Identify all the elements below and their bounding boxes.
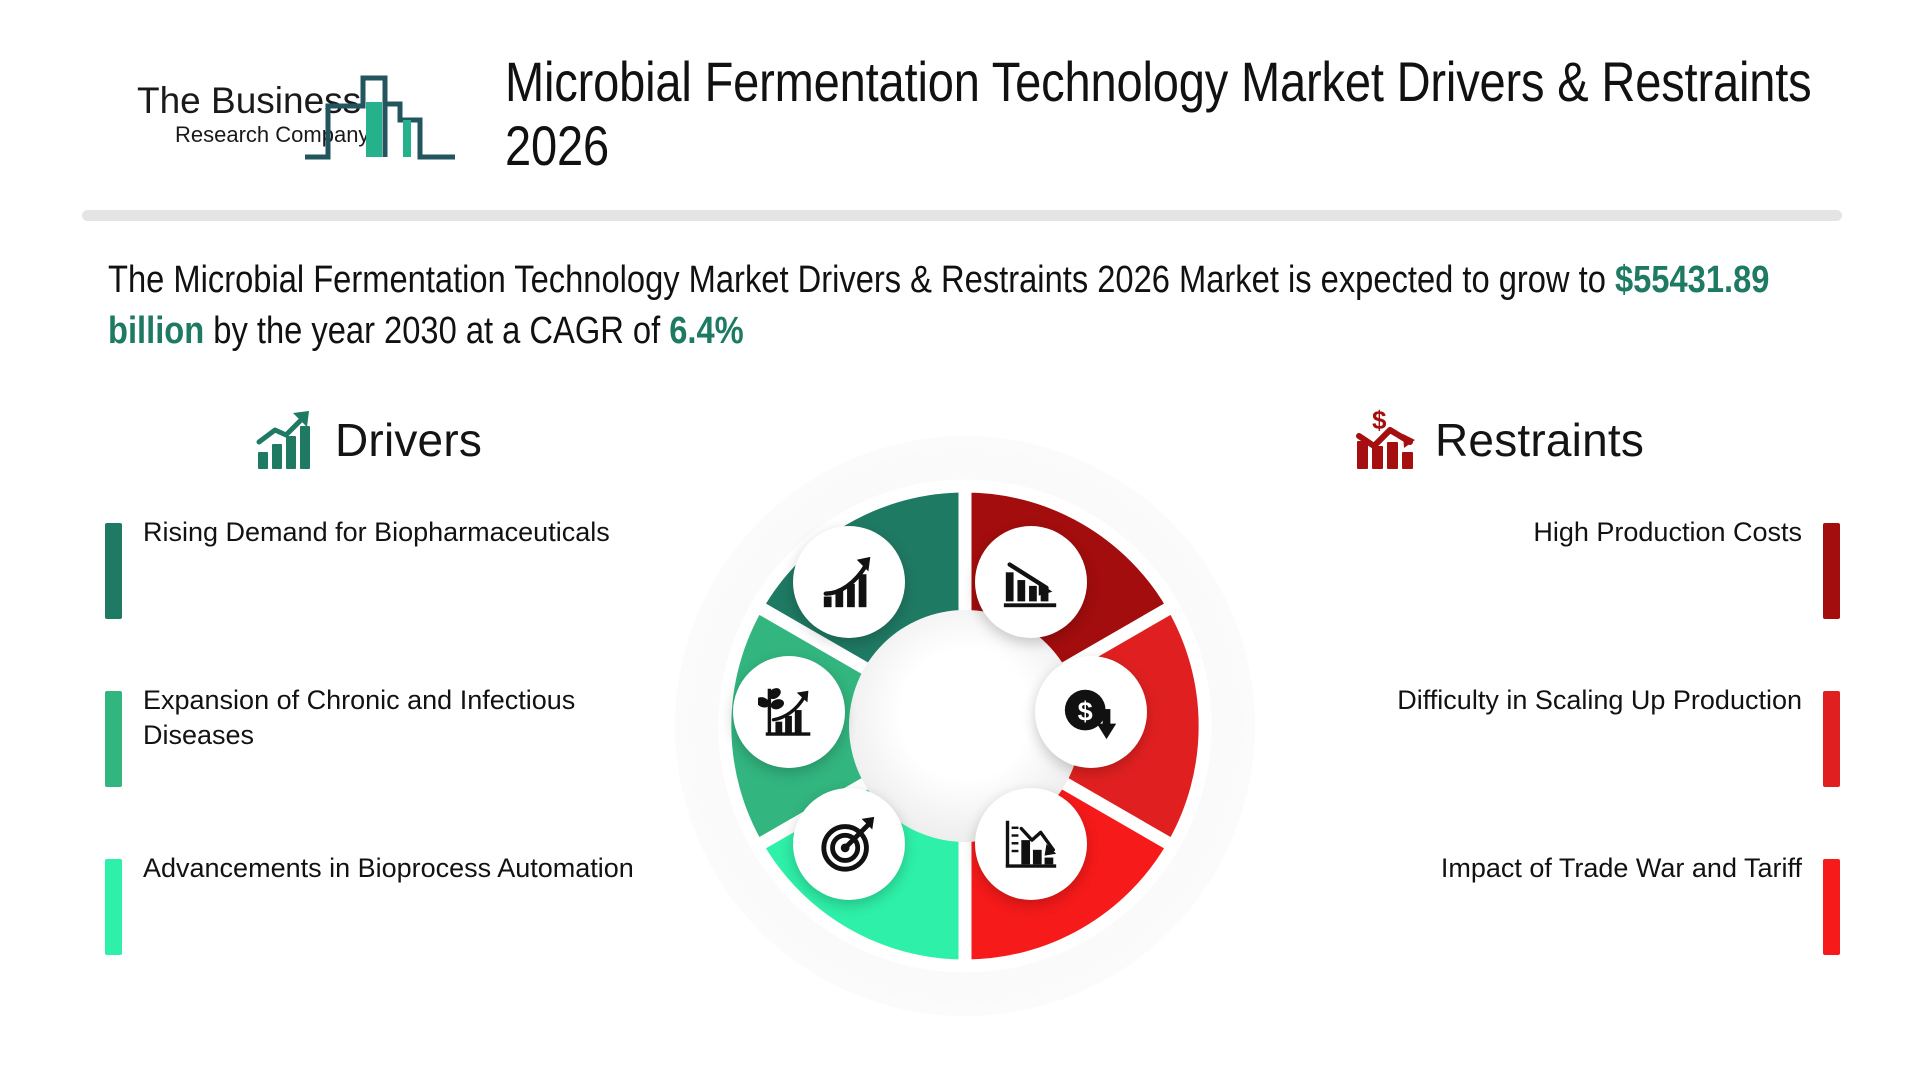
restraint-accent-bar	[1823, 859, 1840, 955]
summary-middle: by the year 2030 at a CAGR of	[204, 310, 669, 352]
driver-accent-bar	[105, 859, 122, 955]
driver-item-text: Rising Demand for Biopharmaceuticals	[143, 515, 643, 550]
title-block: Microbial Fermentation Technology Market…	[505, 50, 1845, 178]
rising-bar-chart-arrow-icon	[255, 408, 319, 472]
drivers-list: Rising Demand for Biopharmaceuticals Exp…	[105, 515, 705, 1019]
logo-text-line2: Research Company	[175, 122, 369, 147]
restraint-item-text: High Production Costs	[1262, 515, 1802, 550]
falling-line-chart-icon	[1000, 813, 1062, 875]
restraints-label: Restraints	[1435, 413, 1644, 467]
badge-declining-bars[interactable]	[975, 526, 1087, 638]
restraint-accent-bar	[1823, 691, 1840, 787]
svg-text:$: $	[1372, 408, 1387, 435]
bar-chart-logo-icon: The Business Research Company	[135, 58, 465, 168]
badge-plant-growth[interactable]	[733, 656, 845, 768]
driver-item-text: Advancements in Bioprocess Automation	[143, 851, 643, 886]
declining-bar-chart-icon	[1000, 551, 1062, 613]
market-summary: The Microbial Fermentation Technology Ma…	[108, 255, 1837, 356]
svg-text:$: $	[1078, 696, 1093, 727]
badge-growth-chart[interactable]	[793, 526, 905, 638]
drivers-label: Drivers	[335, 413, 482, 467]
header-divider	[82, 210, 1842, 221]
driver-item-text: Expansion of Chronic and Infectious Dise…	[143, 683, 643, 753]
logo-bar-teal-2	[403, 120, 411, 157]
target-dart-icon	[818, 813, 880, 875]
falling-bar-chart-dollar-icon: $	[1355, 408, 1419, 472]
driver-accent-bar	[105, 523, 122, 619]
page-title: Microbial Fermentation Technology Market…	[505, 50, 1841, 178]
infographic-page: The Business Research Company Microbial …	[0, 0, 1920, 1080]
restraint-item-text: Impact of Trade War and Tariff	[1262, 851, 1802, 886]
restraints-header: $ Restraints	[1355, 408, 1644, 472]
driver-accent-bar	[105, 691, 122, 787]
restraint-item-text: Difficulty in Scaling Up Production	[1262, 683, 1802, 718]
company-logo: The Business Research Company	[135, 58, 465, 168]
list-item: Rising Demand for Biopharmaceuticals	[105, 515, 705, 683]
restraint-accent-bar	[1823, 523, 1840, 619]
growth-chart-arrow-icon	[818, 551, 880, 613]
summary-lead: The Microbial Fermentation Technology Ma…	[108, 259, 1615, 301]
badge-dollar-decline[interactable]: $	[1035, 656, 1147, 768]
badge-target-dart[interactable]	[793, 788, 905, 900]
list-item: Advancements in Bioprocess Automation	[105, 851, 705, 1019]
cagr-value: 6.4%	[669, 310, 743, 352]
list-item: Expansion of Chronic and Infectious Dise…	[105, 683, 705, 851]
list-item: Difficulty in Scaling Up Production	[1240, 683, 1840, 851]
drivers-header: Drivers	[255, 408, 482, 472]
plant-growth-chart-icon	[758, 681, 820, 743]
badge-falling-line-chart[interactable]	[975, 788, 1087, 900]
header: The Business Research Company Microbial …	[0, 0, 1920, 210]
list-item: High Production Costs	[1240, 515, 1840, 683]
list-item: Impact of Trade War and Tariff	[1240, 851, 1840, 1019]
drivers-restraints-wheel: $	[655, 408, 1275, 1048]
logo-bar-teal-1	[366, 102, 382, 157]
restraints-list: High Production Costs Difficulty in Scal…	[1240, 515, 1840, 1019]
dollar-decline-icon: $	[1060, 681, 1122, 743]
